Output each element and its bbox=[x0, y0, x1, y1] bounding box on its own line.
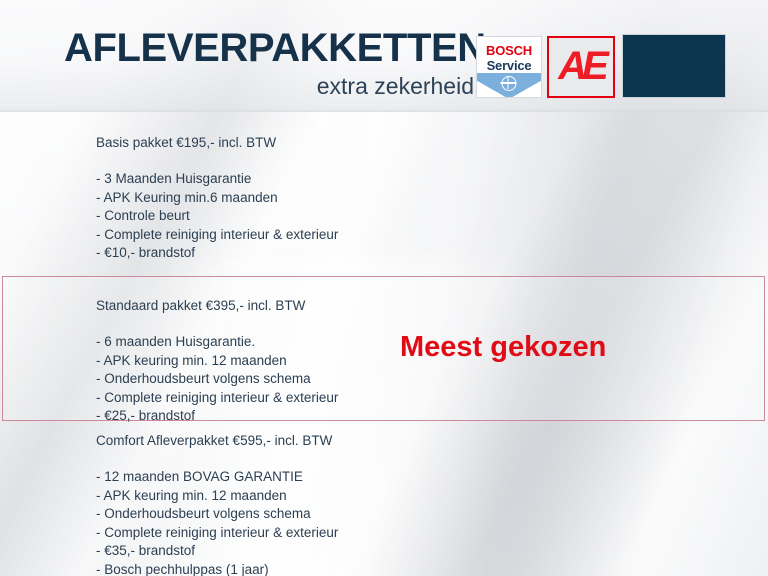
list-item: - €10,- brandstof bbox=[96, 244, 768, 263]
package-title: Basis pakket €195,- incl. BTW bbox=[96, 134, 768, 152]
package-title: Comfort Afleverpakket €595,- incl. BTW bbox=[96, 432, 768, 450]
list-item: - €25,- brandstof bbox=[96, 407, 768, 426]
page-subtitle: extra zekerheid bbox=[64, 71, 474, 101]
list-item: - APK Keuring min.6 maanden bbox=[96, 189, 768, 208]
list-item: - Onderhoudsbeurt volgens schema bbox=[96, 370, 768, 389]
list-item: - Bosch pechhulppas (1 jaar) bbox=[96, 561, 768, 576]
title-block: AFLEVERPAKKETTEN extra zekerheid bbox=[64, 26, 474, 101]
navy-block bbox=[622, 34, 726, 98]
list-item: - 12 maanden BOVAG GARANTIE bbox=[96, 468, 768, 487]
page-title: AFLEVERPAKKETTEN bbox=[64, 26, 474, 70]
list-item: - Complete reiniging interieur & exterie… bbox=[96, 389, 768, 408]
list-item: - €35,- brandstof bbox=[96, 542, 768, 561]
package-comfort: Comfort Afleverpakket €595,- incl. BTW -… bbox=[0, 432, 768, 576]
bosch-armature-icon bbox=[502, 76, 517, 91]
ae-wordmark: AE bbox=[549, 46, 613, 86]
slide-canvas: AFLEVERPAKKETTEN extra zekerheid BOSCH S… bbox=[0, 0, 768, 576]
list-item: - APK keuring min. 12 maanden bbox=[96, 487, 768, 506]
list-item: - 3 Maanden Huisgarantie bbox=[96, 170, 768, 189]
package-title: Standaard pakket €395,- incl. BTW bbox=[96, 297, 768, 315]
ae-logo: AE bbox=[547, 36, 615, 98]
list-item: - Controle beurt bbox=[96, 207, 768, 226]
package-feature-list: - 12 maanden BOVAG GARANTIE - APK keurin… bbox=[96, 468, 768, 576]
list-item: - Complete reiniging interieur & exterie… bbox=[96, 524, 768, 543]
package-feature-list: - 3 Maanden Huisgarantie - APK Keuring m… bbox=[96, 170, 768, 263]
list-item: - Onderhoudsbeurt volgens schema bbox=[96, 505, 768, 524]
header-banner: AFLEVERPAKKETTEN extra zekerheid BOSCH S… bbox=[0, 0, 768, 112]
bosch-wordmark: BOSCH bbox=[477, 43, 541, 58]
most-chosen-badge: Meest gekozen bbox=[400, 331, 606, 364]
bosch-service-logo: BOSCH Service bbox=[476, 36, 542, 98]
package-standaard: Standaard pakket €395,- incl. BTW - 6 ma… bbox=[0, 297, 768, 426]
package-basis: Basis pakket €195,- incl. BTW - 3 Maande… bbox=[0, 134, 768, 263]
list-item: - Complete reiniging interieur & exterie… bbox=[96, 226, 768, 245]
bosch-service-wordmark: Service bbox=[477, 58, 541, 73]
